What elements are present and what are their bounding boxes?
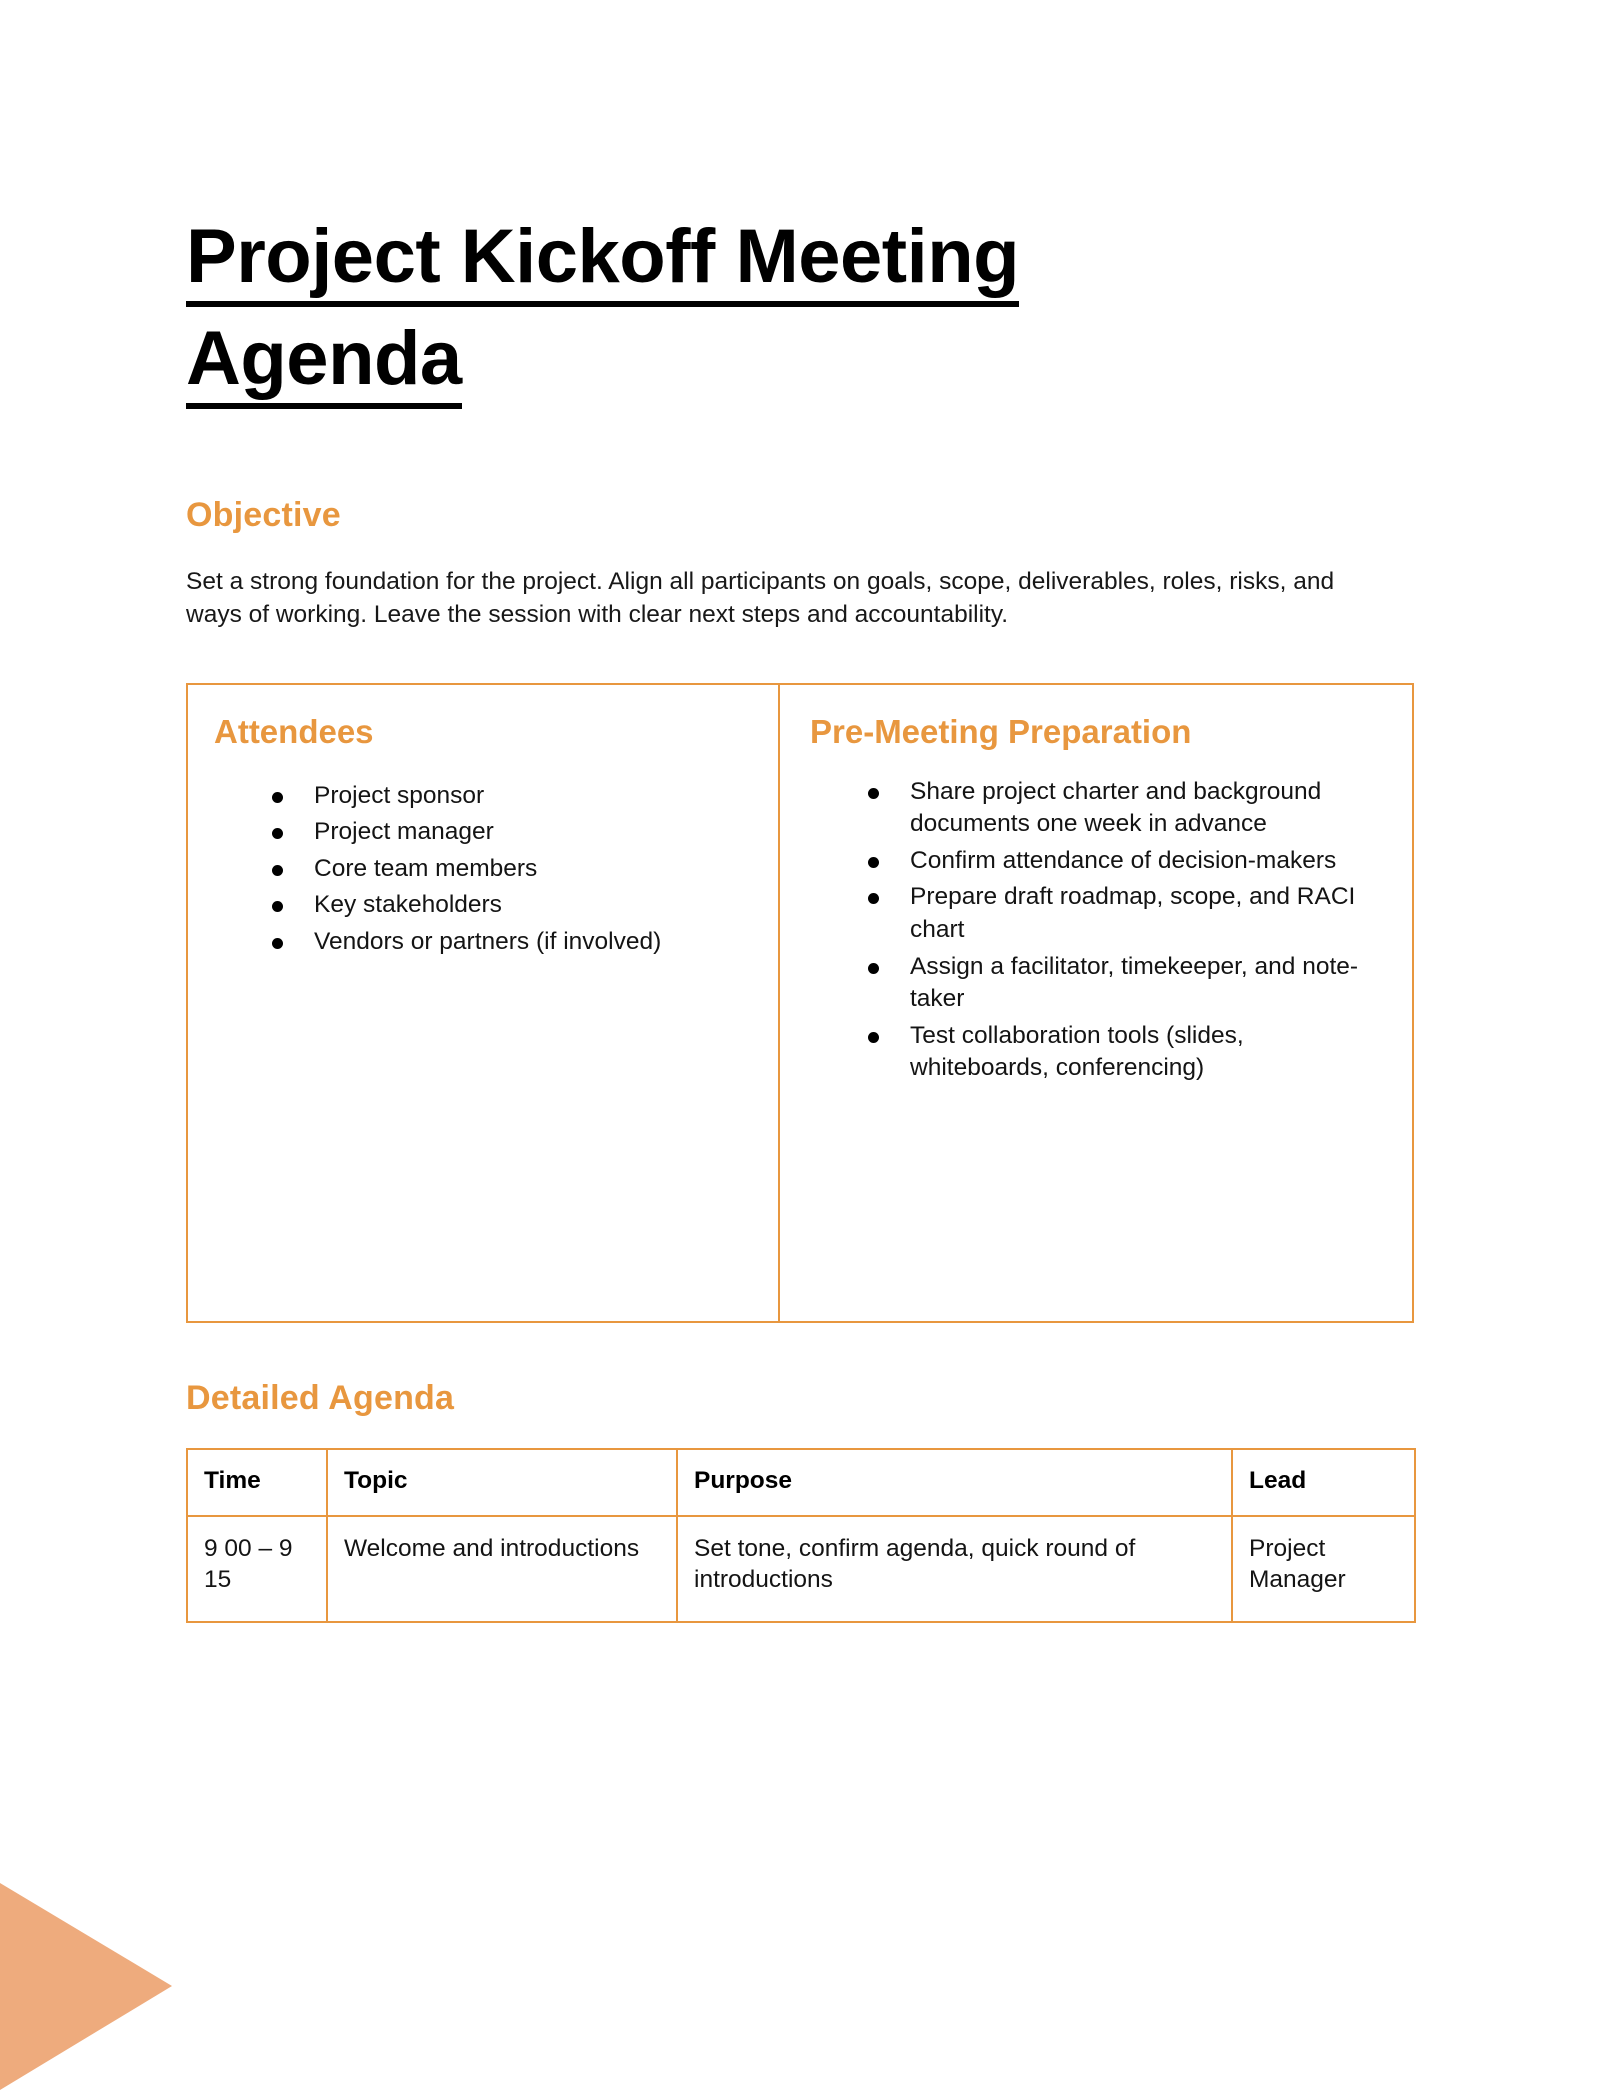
pre-meeting-heading: Pre-Meeting Preparation bbox=[810, 711, 1376, 754]
list-item: Confirm attendance of decision-makers bbox=[868, 845, 1376, 878]
list-item: Prepare draft roadmap, scope, and RACI c… bbox=[868, 881, 1376, 946]
page-title-line-1: Project Kickoff Meeting bbox=[186, 214, 1019, 307]
table-row: 9 00 – 9 15 Welcome and introductions Se… bbox=[187, 1516, 1415, 1623]
attendees-column: Attendees Project sponsor Project manage… bbox=[188, 685, 778, 1321]
detailed-agenda-table: Time Topic Purpose Lead 9 00 – 9 15 Welc… bbox=[186, 1448, 1416, 1624]
pre-meeting-column: Pre-Meeting Preparation Share project ch… bbox=[778, 685, 1412, 1321]
column-header-purpose: Purpose bbox=[677, 1449, 1232, 1516]
cell-purpose: Set tone, confirm agenda, quick round of… bbox=[677, 1516, 1232, 1623]
objective-body: Set a strong foundation for the project.… bbox=[186, 535, 1376, 632]
page-title: Project Kickoff MeetingAgenda bbox=[186, 0, 1326, 410]
list-item: Key stakeholders bbox=[272, 889, 748, 922]
page-title-line-2: Agenda bbox=[186, 316, 462, 409]
column-header-topic: Topic bbox=[327, 1449, 677, 1516]
pre-meeting-list: Share project charter and background doc… bbox=[810, 776, 1376, 1085]
cell-lead: Project Manager bbox=[1232, 1516, 1415, 1623]
decorative-corner-triangle bbox=[0, 1883, 172, 2090]
list-item: Test collaboration tools (slides, whiteb… bbox=[868, 1020, 1376, 1085]
attendees-heading: Attendees bbox=[214, 711, 748, 754]
detailed-agenda-heading: Detailed Agenda bbox=[186, 1323, 1416, 1418]
table-header-row: Time Topic Purpose Lead bbox=[187, 1449, 1415, 1516]
list-item: Assign a facilitator, timekeeper, and no… bbox=[868, 951, 1376, 1016]
cell-time: 9 00 – 9 15 bbox=[187, 1516, 327, 1623]
objective-heading: Objective bbox=[186, 410, 1416, 535]
attendees-list: Project sponsor Project manager Core tea… bbox=[214, 780, 748, 959]
list-item: Vendors or partners (if involved) bbox=[272, 926, 748, 959]
list-item: Share project charter and background doc… bbox=[868, 776, 1376, 841]
document-content: Project Kickoff MeetingAgenda Objective … bbox=[186, 0, 1416, 1623]
cell-topic: Welcome and introductions bbox=[327, 1516, 677, 1623]
document-page: Project Kickoff MeetingAgenda Objective … bbox=[0, 0, 1600, 2070]
column-header-time: Time bbox=[187, 1449, 327, 1516]
attendees-preparation-box: Attendees Project sponsor Project manage… bbox=[186, 683, 1414, 1323]
list-item: Project sponsor bbox=[272, 780, 748, 813]
list-item: Core team members bbox=[272, 853, 748, 886]
list-item: Project manager bbox=[272, 816, 748, 849]
column-header-lead: Lead bbox=[1232, 1449, 1415, 1516]
